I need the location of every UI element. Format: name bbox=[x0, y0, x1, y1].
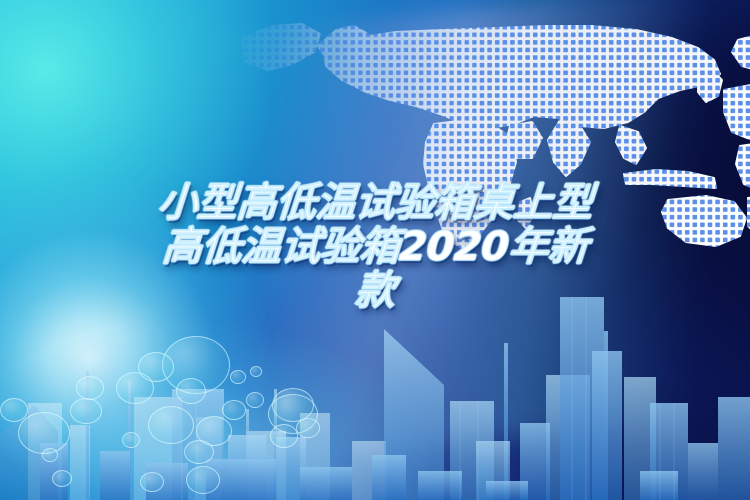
headline-line-1: 小型高低温试验箱桌上型 bbox=[0, 181, 750, 225]
bubble-icon bbox=[222, 400, 246, 420]
bubble-icon bbox=[246, 392, 264, 408]
bubble-icon bbox=[176, 378, 206, 404]
bubble-icon bbox=[116, 372, 154, 404]
bubble-icon bbox=[122, 432, 140, 448]
promo-banner: 小型高低温试验箱桌上型 高低温试验箱2020年新 款 bbox=[0, 0, 750, 500]
bubble-icon bbox=[76, 376, 104, 400]
bubble-icon bbox=[70, 398, 102, 424]
bubble-icon bbox=[18, 412, 70, 454]
bubble-icon bbox=[250, 366, 262, 377]
bubble-icon bbox=[42, 448, 58, 462]
bubble-icon bbox=[52, 470, 72, 487]
bubble-icon bbox=[272, 388, 314, 422]
headline-line-3: 款 bbox=[0, 269, 750, 313]
headline-block: 小型高低温试验箱桌上型 高低温试验箱2020年新 款 bbox=[0, 181, 750, 313]
headline-line-2: 高低温试验箱2020年新 bbox=[0, 225, 750, 269]
bubble-icon bbox=[0, 398, 28, 422]
bubble-icon bbox=[140, 472, 164, 492]
bubble-icon bbox=[270, 424, 298, 448]
bubble-icon bbox=[148, 406, 194, 444]
bubble-icon bbox=[230, 370, 246, 384]
bubble-icon bbox=[186, 466, 220, 494]
bubble-icon bbox=[184, 440, 214, 464]
